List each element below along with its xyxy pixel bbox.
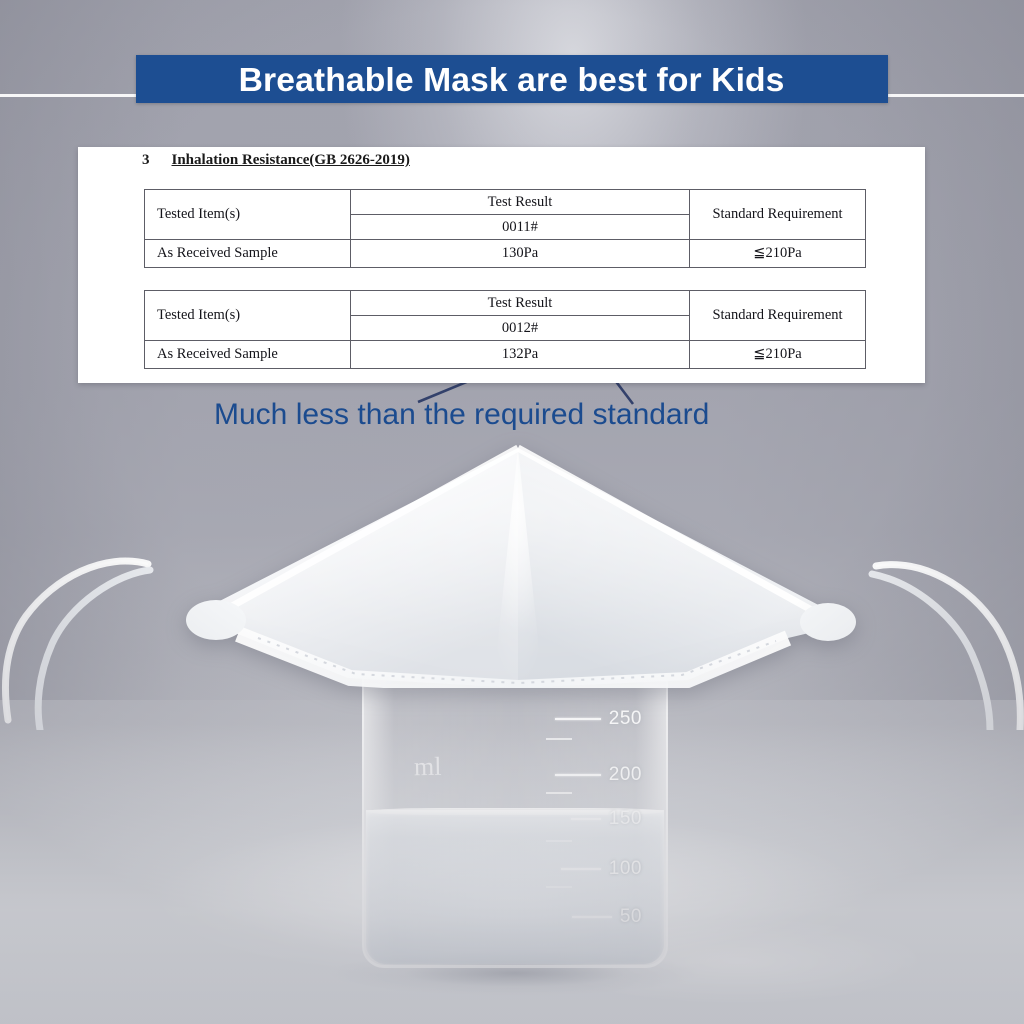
cell-tested-item-header: Tested Item(s) <box>145 291 351 341</box>
cell-test-result-header: Test Result <box>351 291 690 316</box>
annotation-caption: Much less than the required standard <box>214 398 709 432</box>
cell-sample-label: As Received Sample <box>145 240 351 268</box>
section-title: Inhalation Resistance(GB 2626-2019) <box>172 152 410 168</box>
cell-tested-item-header: Tested Item(s) <box>145 190 351 240</box>
table-row: Tested Item(s) Test Result Standard Requ… <box>145 291 866 316</box>
table-row: Tested Item(s) Test Result Standard Requ… <box>145 190 866 215</box>
cell-measured-value: 132Pa <box>351 341 690 369</box>
table-row: As Received Sample 132Pa ≦210Pa <box>145 341 866 369</box>
test-report-panel: 3Inhalation Resistance(GB 2626-2019) Tes… <box>78 147 925 383</box>
table-row: As Received Sample 130Pa ≦210Pa <box>145 240 866 268</box>
cell-standard-requirement-header: Standard Requirement <box>690 190 866 240</box>
cell-standard-value: ≦210Pa <box>690 240 866 268</box>
section-number: 3 <box>142 152 150 169</box>
inhalation-resistance-table-0011: Tested Item(s) Test Result Standard Requ… <box>144 189 866 268</box>
inhalation-resistance-table-0012: Tested Item(s) Test Result Standard Requ… <box>144 290 866 369</box>
poster-canvas: ml 250 200 150 100 50 <box>0 0 1024 1024</box>
cell-sample-label: As Received Sample <box>145 341 351 369</box>
title-banner: Breathable Mask are best for Kids <box>136 55 888 103</box>
cell-sample-id: 0011# <box>351 215 690 240</box>
title-text: Breathable Mask are best for Kids <box>239 63 785 96</box>
cell-sample-id: 0012# <box>351 316 690 341</box>
report-section-heading: 3Inhalation Resistance(GB 2626-2019) <box>142 152 410 169</box>
cell-measured-value: 130Pa <box>351 240 690 268</box>
cell-standard-requirement-header: Standard Requirement <box>690 291 866 341</box>
cell-standard-value: ≦210Pa <box>690 341 866 369</box>
cell-test-result-header: Test Result <box>351 190 690 215</box>
